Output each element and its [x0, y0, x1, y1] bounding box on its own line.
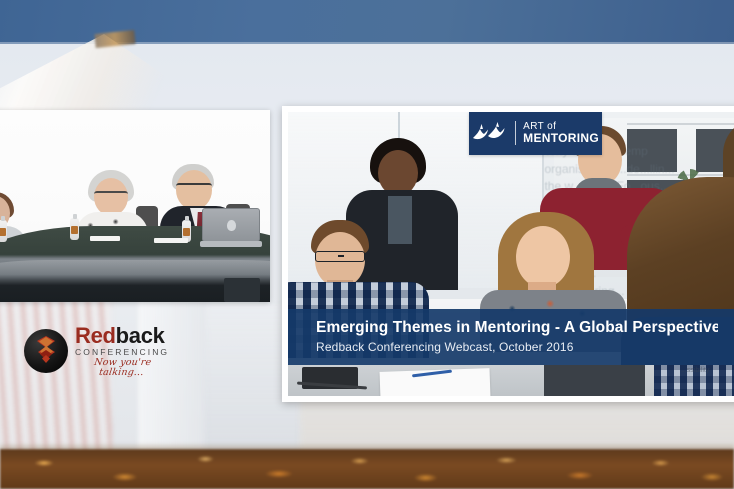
paper-sheet — [154, 238, 188, 243]
video-desk-cutout — [224, 278, 260, 302]
video-desk-lip — [0, 260, 270, 280]
slide-foot-ghost-text: ...ssibility — [681, 367, 709, 374]
redback-spider-icon — [24, 329, 68, 373]
redback-subtitle: CONFERENCING — [75, 348, 169, 357]
redback-name-black: back — [116, 323, 165, 348]
slide-subtitle: Redback Conferencing Webcast, October 20… — [316, 340, 718, 355]
video-panel[interactable] — [0, 110, 270, 302]
slide-title-band: Emerging Themes in Mentoring - A Global … — [288, 309, 734, 364]
redback-tagline: Now you're talking... — [74, 358, 171, 377]
slide-title: Emerging Themes in Mentoring - A Global … — [316, 318, 718, 337]
background-mulch — [0, 449, 734, 489]
laptop — [200, 208, 262, 252]
water-bottle — [0, 220, 7, 242]
redback-conferencing-logo: Redback CONFERENCING Now you're talking.… — [24, 322, 164, 380]
logo-line-mentoring: MENTORING — [523, 132, 599, 145]
slide-content: Why comp... ...emp organisatio... ...de.… — [288, 112, 734, 396]
logo-divider — [515, 121, 517, 145]
water-bottle — [70, 218, 79, 240]
art-of-mentoring-logo: ART of MENTORING — [469, 112, 602, 155]
paper-sheet — [90, 236, 120, 241]
webcast-viewer-screen: Redback CONFERENCING Now you're talking.… — [0, 0, 734, 489]
redback-wordmark: Redback CONFERENCING Now you're talking.… — [75, 325, 169, 378]
redback-name-red: Red — [75, 323, 116, 348]
flying-geese-icon — [472, 122, 508, 144]
slide-foot-strip: ...ssibility — [288, 365, 734, 396]
slide-panel[interactable]: Why comp... ...emp organisatio... ...de.… — [282, 106, 734, 402]
